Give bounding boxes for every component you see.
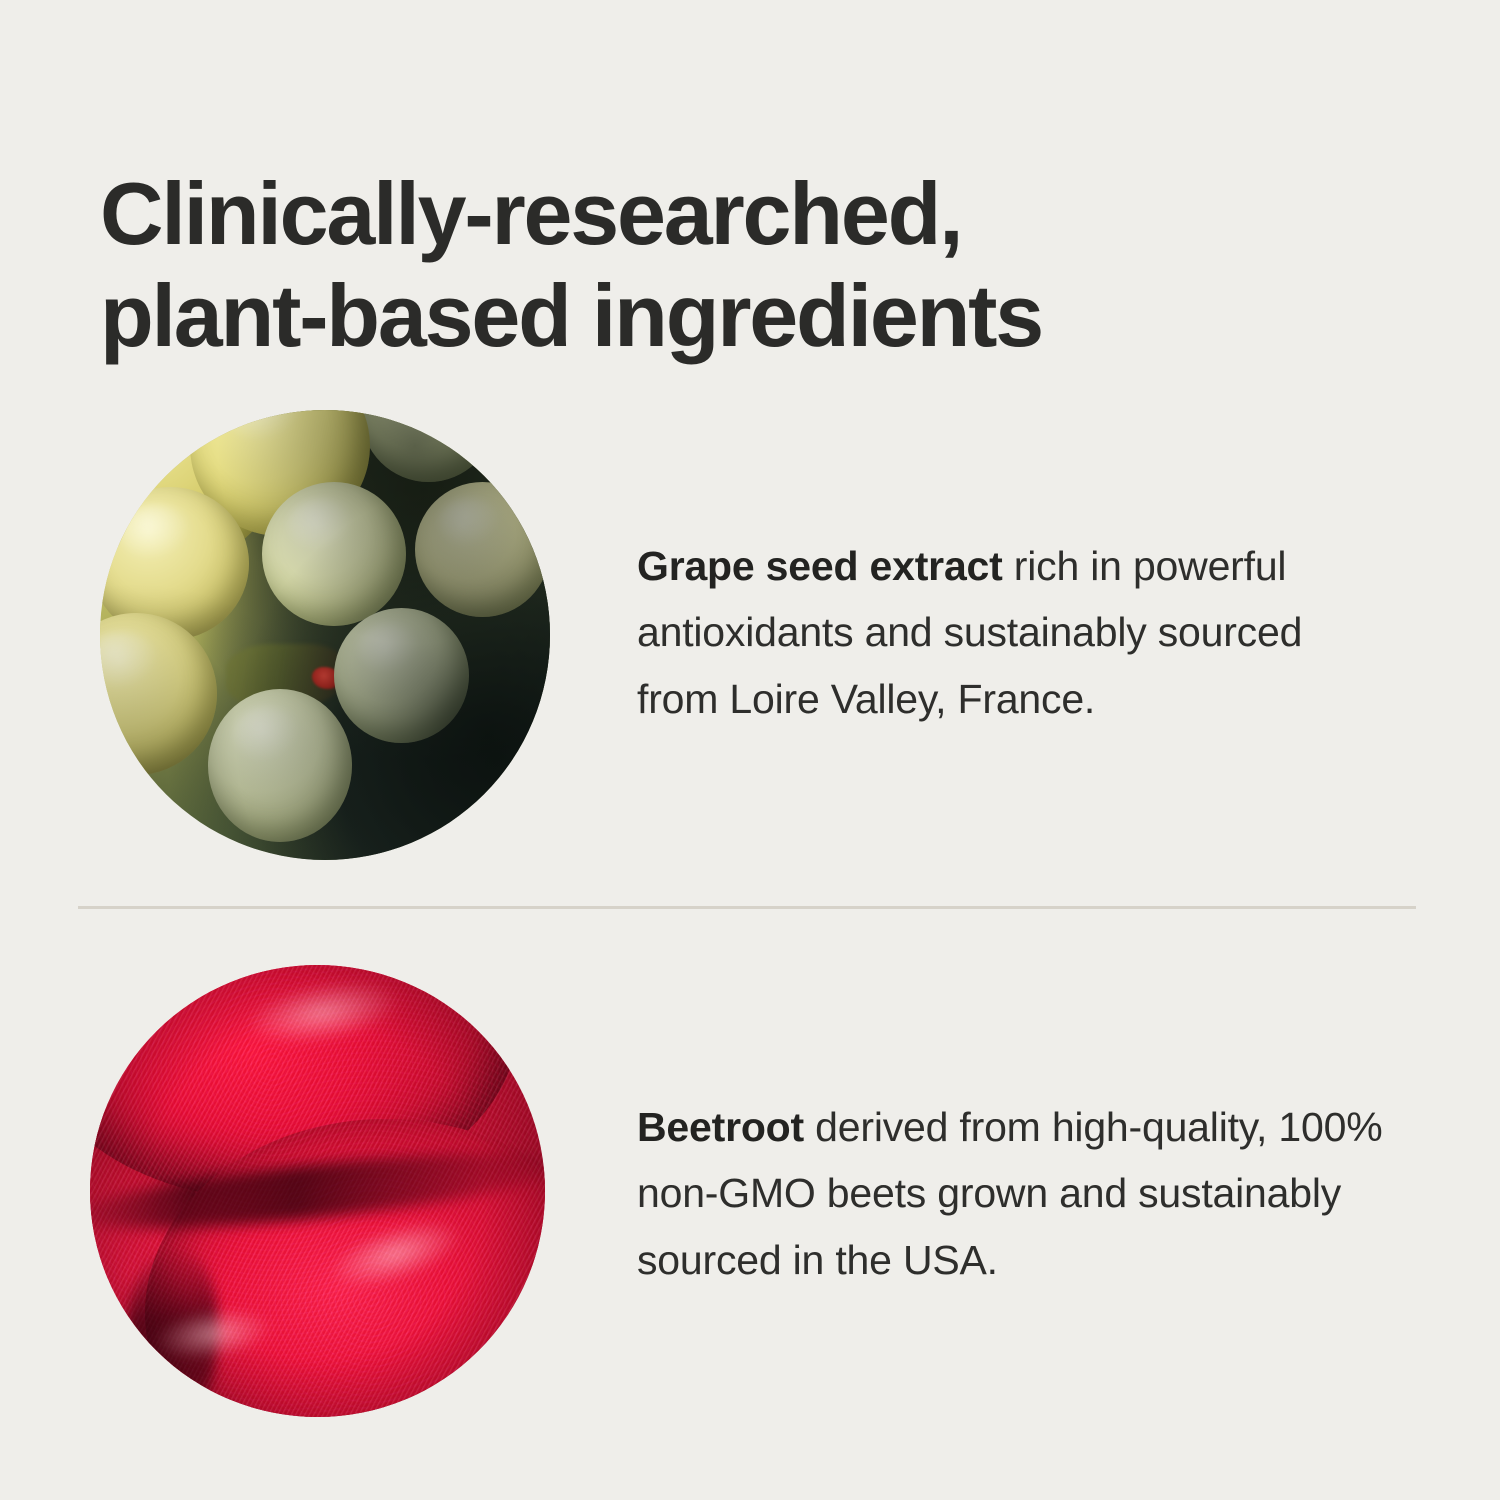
grape-berry (100, 613, 217, 775)
grapes-photo (100, 410, 550, 860)
section-divider (78, 906, 1416, 909)
ingredient-section-grape-seed-extract: Grape seed extract rich in powerful anti… (0, 410, 1500, 862)
grape-berry (361, 410, 496, 482)
beetroot-photo-backdrop (90, 965, 545, 1417)
grape-berry (334, 608, 469, 743)
ingredient-name-grape-seed-extract: Grape seed extract (637, 543, 1003, 589)
ingredient-description-grape-seed-extract: Grape seed extract rich in powerful anti… (637, 451, 1327, 732)
ingredient-description-beetroot: Beetroot derived from high-quality, 100%… (637, 1006, 1397, 1293)
ingredient-section-beetroot: Beetroot derived from high-quality, 100%… (0, 965, 1500, 1417)
ingredient-name-beetroot: Beetroot (637, 1104, 804, 1150)
ingredients-infographic: Clinically-researched, plant-based ingre… (0, 0, 1500, 1500)
grape-berry (262, 482, 406, 626)
page-title: Clinically-researched, plant-based ingre… (100, 163, 1430, 367)
grape-berry (415, 482, 550, 617)
beetroot-photo (90, 965, 545, 1417)
grapes-photo-backdrop (100, 410, 550, 860)
grape-berry (208, 689, 352, 842)
